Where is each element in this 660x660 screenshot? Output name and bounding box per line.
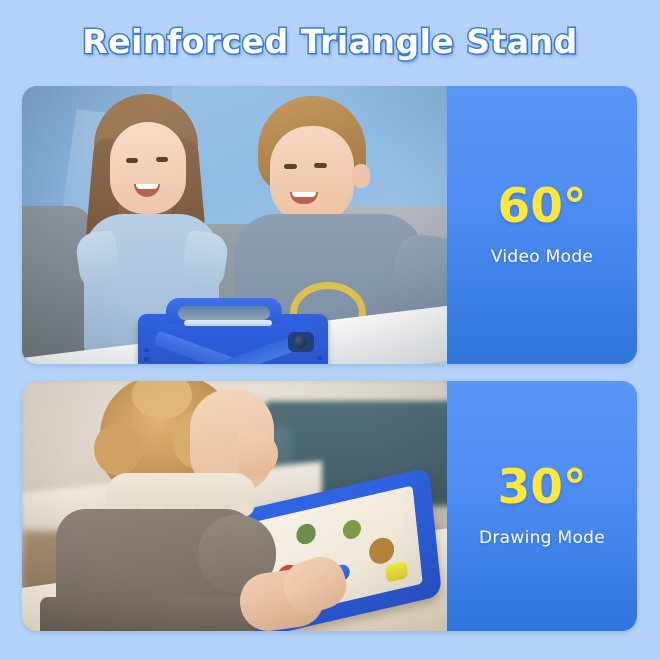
feature-card-drawing-mode: 30° Drawing Mode xyxy=(22,381,637,631)
page-title-container: Reinforced Triangle Stand xyxy=(0,22,660,61)
angle-value-drawing: 30° xyxy=(498,464,587,511)
mode-label-drawing: Drawing Mode xyxy=(479,528,605,548)
photo-vignette xyxy=(22,381,447,631)
feature-card-video-mode: 60° Video Mode xyxy=(22,86,637,364)
page-title: Reinforced Triangle Stand xyxy=(82,22,577,61)
mode-label-video: Video Mode xyxy=(491,247,593,267)
product-feature-image: Reinforced Triangle Stand xyxy=(0,0,660,660)
photo-vignette xyxy=(22,86,447,364)
info-panel-video-mode: 60° Video Mode xyxy=(447,86,637,364)
angle-value-video: 60° xyxy=(498,183,587,230)
info-panel-drawing-mode: 30° Drawing Mode xyxy=(447,381,637,631)
photo-video-mode xyxy=(22,86,447,364)
photo-drawing-mode xyxy=(22,381,447,631)
